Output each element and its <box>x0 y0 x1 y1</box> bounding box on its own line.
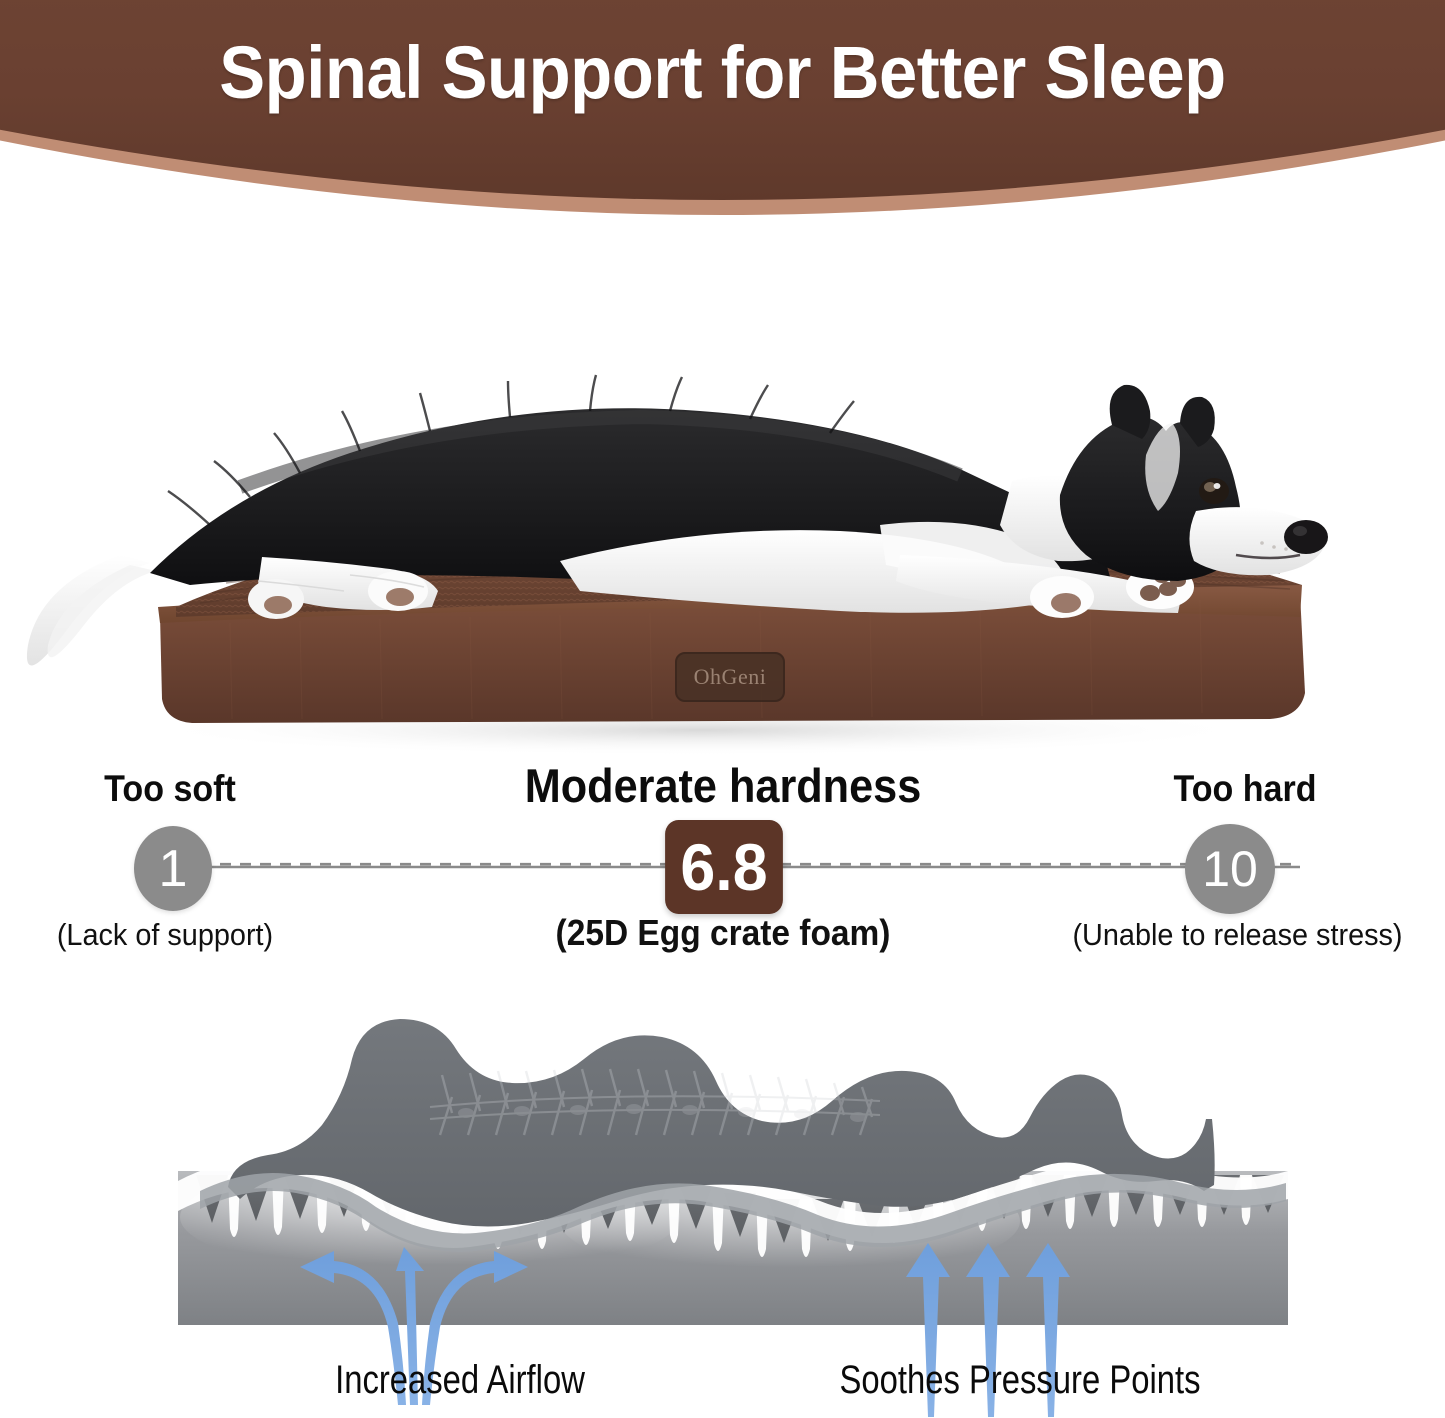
scale-caption-right: (Unable to release stress) <box>1045 917 1431 953</box>
diagram-label-airflow: Increased Airflow <box>189 1358 730 1403</box>
brand-label-text: OhGeni <box>694 664 767 689</box>
scale-label-too-hard: Too hard <box>1112 768 1379 810</box>
product-photo: OhGeni <box>0 225 1445 765</box>
header-banner: Spinal Support for Better Sleep <box>0 0 1445 215</box>
scale-endpoint-high: 10 <box>1185 824 1275 914</box>
page-title: Spinal Support for Better Sleep <box>51 30 1395 115</box>
scale-caption-left: (Lack of support) <box>12 917 319 953</box>
diagram-label-pressure: Soothes Pressure Points <box>700 1358 1340 1403</box>
foam-diagram <box>0 985 1445 1418</box>
hardness-score-badge: 6.8 <box>665 820 783 914</box>
scale-label-too-soft: Too soft <box>14 768 327 810</box>
scale-endpoint-low: 1 <box>134 826 212 911</box>
scale-label-moderate: Moderate hardness <box>432 758 1013 813</box>
brand-label: OhGeni <box>676 653 784 701</box>
scale-caption-center: (25D Egg crate foam) <box>429 912 1017 954</box>
